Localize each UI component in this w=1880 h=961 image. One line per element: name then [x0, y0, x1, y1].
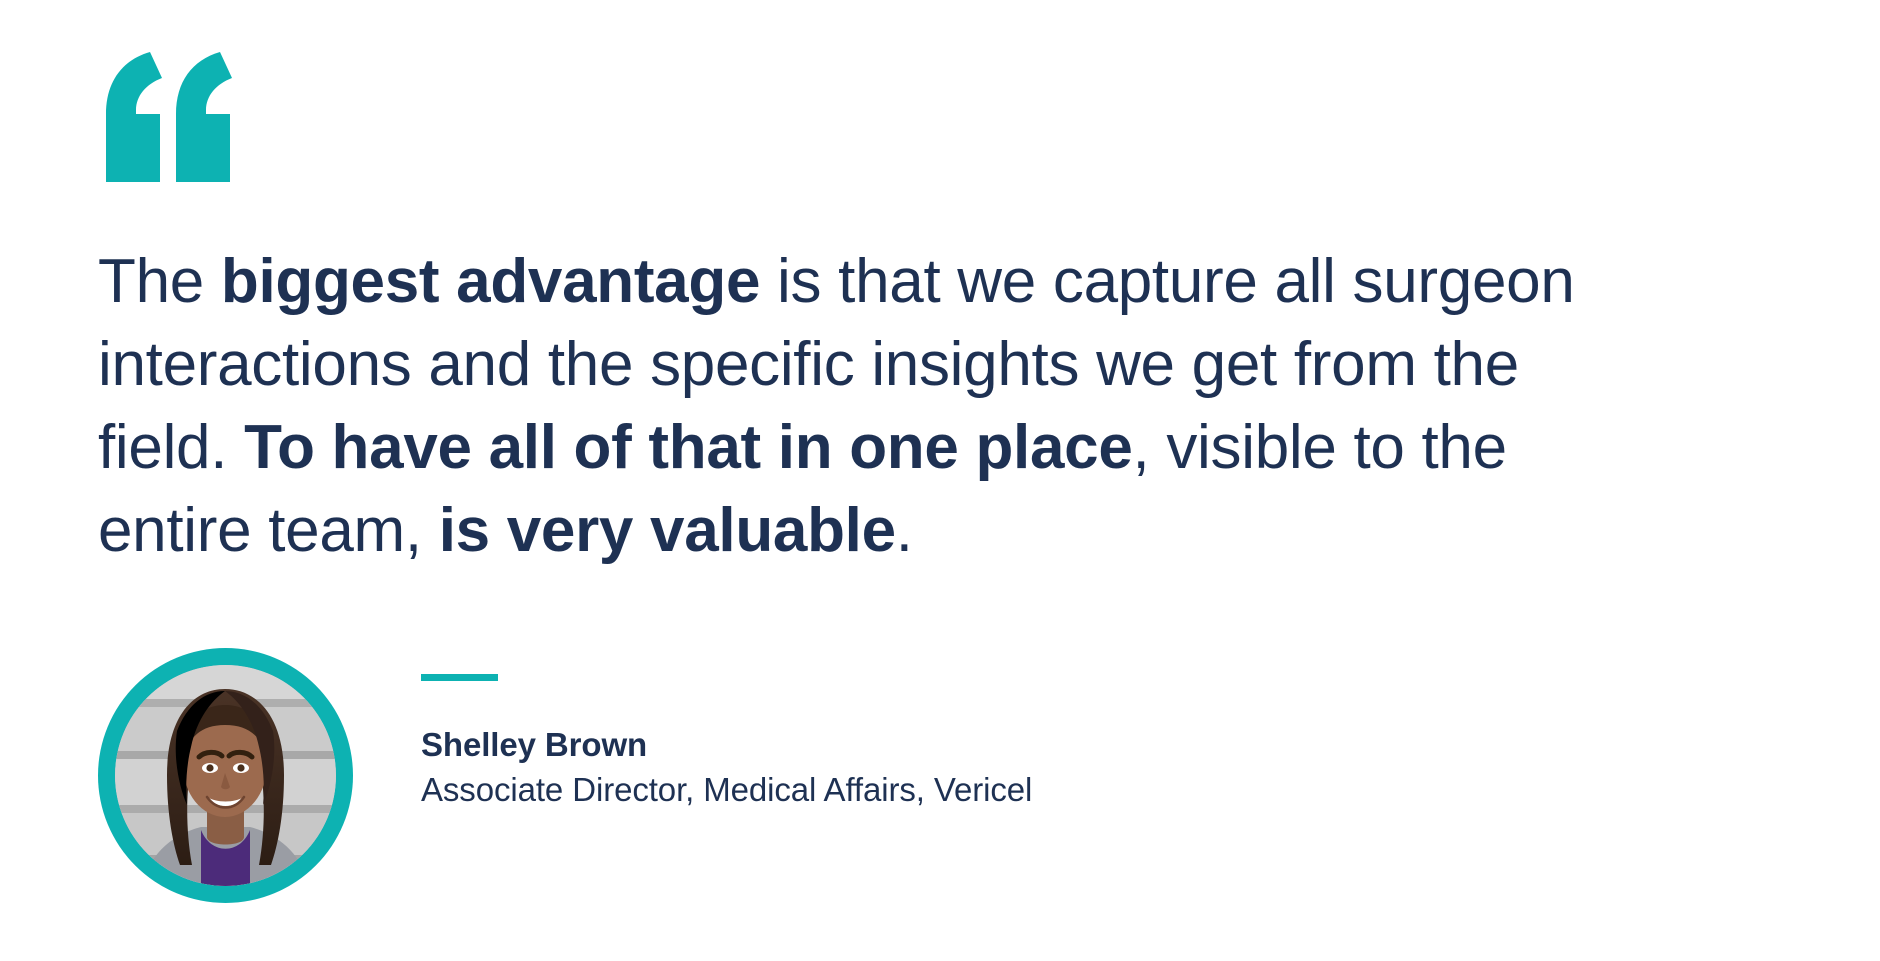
quote-segment-bold: is very valuable: [439, 496, 896, 565]
opening-quotation-mark-icon: [98, 52, 238, 182]
quote-segment: , visible to the: [1133, 413, 1507, 482]
quote-segment: is that we capture all surgeon: [760, 247, 1574, 316]
testimonial-card: The biggest advantage is that we capture…: [0, 0, 1880, 961]
attribution-block: Shelley Brown Associate Director, Medica…: [98, 648, 1032, 903]
quote-line: entire team, is very valuable.: [98, 489, 1798, 572]
quote-line: field. To have all of that in one place,…: [98, 406, 1798, 489]
quote-segment-bold: biggest advantage: [221, 247, 760, 316]
avatar: [98, 648, 353, 903]
quote-text: The biggest advantage is that we capture…: [98, 240, 1798, 572]
quote-segment: .: [896, 496, 913, 565]
avatar-photo: [115, 665, 336, 886]
person-name: Shelley Brown: [421, 723, 1032, 767]
quote-segment-bold: To have all of that in one place: [244, 413, 1132, 482]
person-title: Associate Director, Medical Affairs, Ver…: [421, 767, 1032, 813]
quote-segment: interactions and the specific insights w…: [98, 330, 1519, 399]
quote-segment: field.: [98, 413, 244, 482]
quote-line: interactions and the specific insights w…: [98, 323, 1798, 406]
quote-segment: entire team,: [98, 496, 439, 565]
accent-divider: [421, 674, 498, 681]
attribution-text: Shelley Brown Associate Director, Medica…: [421, 648, 1032, 813]
quote-line: The biggest advantage is that we capture…: [98, 240, 1798, 323]
quote-segment: The: [98, 247, 221, 316]
